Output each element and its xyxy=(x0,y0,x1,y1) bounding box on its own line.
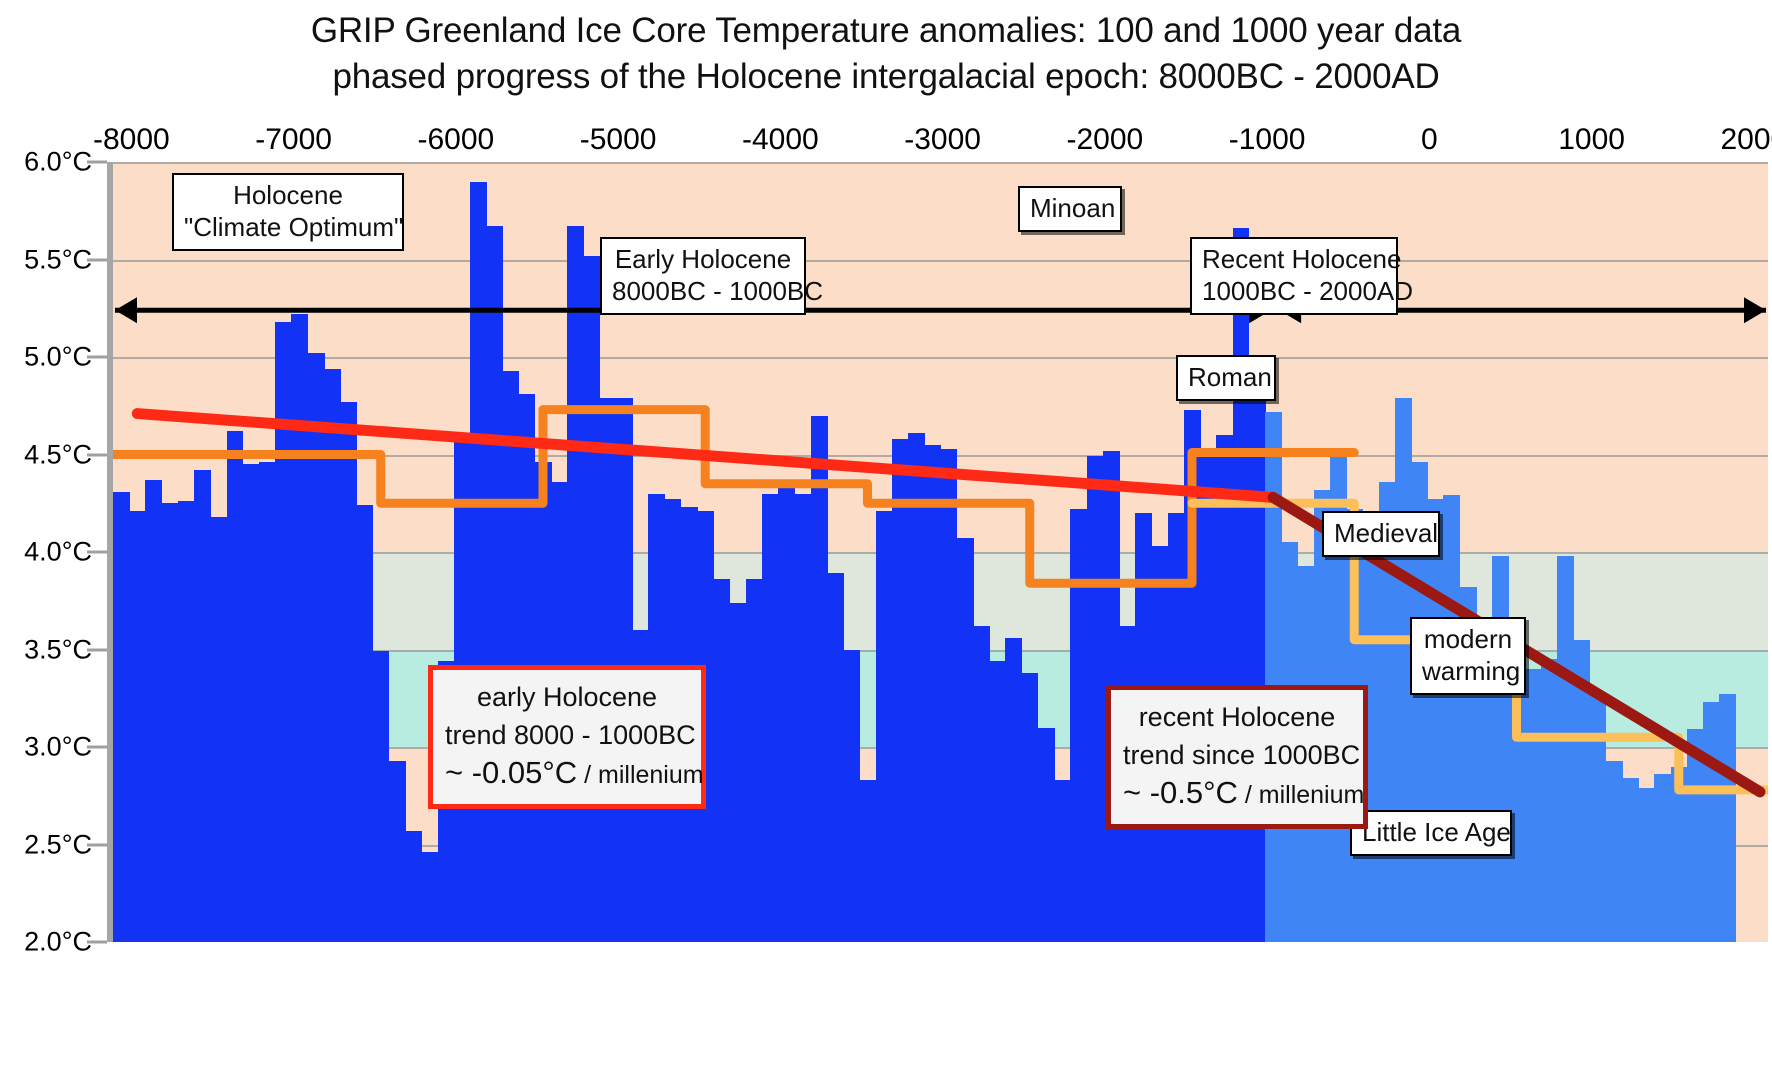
callout-medieval: Medieval xyxy=(1322,511,1440,557)
y-tick-mark xyxy=(87,746,107,749)
x-tick-neg1000: -1000 xyxy=(1229,123,1306,157)
x-tick-neg3000: -3000 xyxy=(904,123,981,157)
chart-root: GRIP Greenland Ice Core Temperature anom… xyxy=(0,0,1772,1077)
x-tick-neg7000: -7000 xyxy=(255,123,332,157)
callout-modern-warming: modern warming xyxy=(1410,617,1526,695)
y-tick-2: 2.0°C xyxy=(24,927,92,958)
callout-minoan: Minoan xyxy=(1018,186,1122,232)
title-line-2: phased progress of the Holocene intergal… xyxy=(0,54,1772,100)
trend-early-line1: early Holocene xyxy=(445,678,689,716)
y-tick-mark xyxy=(87,258,107,261)
plot-area xyxy=(107,162,1768,942)
trend-recent-value: ~ -0.5°C xyxy=(1123,775,1238,810)
y-tick-6: 6.0°C xyxy=(24,147,92,178)
y-tick-3: 3.0°C xyxy=(24,732,92,763)
x-tick-0: 0 xyxy=(1421,123,1438,157)
callout-early-holocene: Early Holocene 8000BC - 1000BC xyxy=(600,237,806,315)
y-tick-5-5: 5.5°C xyxy=(24,244,92,275)
trend-early-unit: / millenium xyxy=(577,761,703,789)
trend-recent-unit: / millenium xyxy=(1238,781,1364,809)
callout-early-holocene-line2: 8000BC - 1000BC xyxy=(612,275,794,307)
y-tick-mark xyxy=(87,161,107,164)
callout-recent-holocene-line2: 1000BC - 2000AD xyxy=(1202,275,1386,307)
callout-early-holocene-line1: Early Holocene xyxy=(612,243,794,275)
y-tick-2-5: 2.5°C xyxy=(24,829,92,860)
x-tick-2000: 2000 xyxy=(1721,123,1772,157)
trend-early-value: ~ -0.05°C xyxy=(445,755,577,790)
y-tick-4: 4.0°C xyxy=(24,537,92,568)
page-title: GRIP Greenland Ice Core Temperature anom… xyxy=(0,8,1772,100)
y-tick-3-5: 3.5°C xyxy=(24,634,92,665)
y-tick-mark xyxy=(87,648,107,651)
trend-recent-value-row: ~ -0.5°C / millenium xyxy=(1123,774,1351,814)
callout-recent-holocene: Recent Holocene 1000BC - 2000AD xyxy=(1190,237,1398,315)
x-tick-neg6000: -6000 xyxy=(417,123,494,157)
callout-recent-holocene-line1: Recent Holocene xyxy=(1202,243,1386,275)
x-tick-1000: 1000 xyxy=(1558,123,1625,157)
x-tick-neg4000: -4000 xyxy=(742,123,819,157)
y-tick-4-5: 4.5°C xyxy=(24,439,92,470)
y-tick-mark xyxy=(87,453,107,456)
x-tick-neg8000: -8000 xyxy=(93,123,170,157)
callout-modern-warming-line2: warming xyxy=(1422,655,1514,687)
x-tick-neg5000: -5000 xyxy=(580,123,657,157)
y-tick-mark xyxy=(87,941,107,944)
y-tick-mark xyxy=(87,843,107,846)
callout-medieval-label: Medieval xyxy=(1334,518,1438,548)
callout-climate-optimum-line2: "Climate Optimum" xyxy=(184,211,392,243)
x-tick-neg2000: -2000 xyxy=(1066,123,1143,157)
trend-early-value-row: ~ -0.05°C / millenium xyxy=(445,754,689,794)
span-arrows xyxy=(113,162,1768,942)
y-tick-mark xyxy=(87,356,107,359)
trend-recent-line1: recent Holocene xyxy=(1123,698,1351,736)
callout-little-ice-age: Little Ice Age xyxy=(1350,810,1512,856)
trend-recent-line2: trend since 1000BC xyxy=(1123,736,1351,774)
callout-climate-optimum-line1: Holocene xyxy=(184,179,392,211)
y-tick-5: 5.0°C xyxy=(24,342,92,373)
trend-recent-box: recent Holocene trend since 1000BC ~ -0.… xyxy=(1106,685,1368,829)
callout-modern-warming-line1: modern xyxy=(1422,623,1514,655)
callout-roman: Roman xyxy=(1176,355,1276,401)
trend-early-box: early Holocene trend 8000 - 1000BC ~ -0.… xyxy=(428,665,706,809)
title-line-1: GRIP Greenland Ice Core Temperature anom… xyxy=(0,8,1772,54)
y-tick-mark xyxy=(87,551,107,554)
trend-early-line2: trend 8000 - 1000BC xyxy=(445,716,689,754)
callout-climate-optimum: Holocene "Climate Optimum" xyxy=(172,173,404,251)
